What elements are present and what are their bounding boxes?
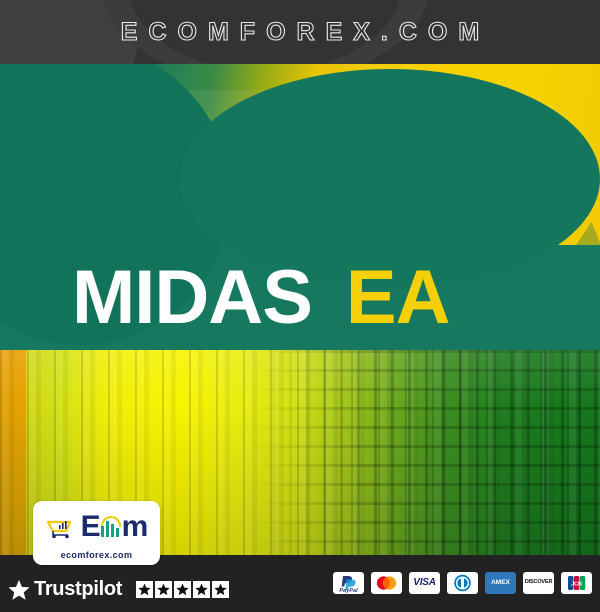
logo-mark: E m [33,510,160,544]
svg-text:JCB: JCB [571,582,582,588]
trustpilot-rating[interactable]: Trustpilot [8,578,229,601]
candlestick-icon [100,516,122,539]
rating-star-box [212,581,229,598]
discover-label: DISCOVER [525,580,553,586]
logo-letter-m: m [122,512,148,542]
page-title: MIDAS EA [0,245,600,350]
mastercard-icon[interactable] [371,572,402,594]
site-name: ECOMFOREX.COM [0,0,600,64]
amex-label: AMEX [491,580,510,587]
product-banner: ECOMFOREX.COM [0,0,600,612]
star-icon [8,579,30,601]
jcb-icon[interactable]: JCB [561,572,592,594]
brand-logo-badge[interactable]: E m ecomforex.com [33,501,160,565]
discover-icon[interactable]: DISCOVER [523,572,554,594]
paypal-icon[interactable]: PayPal [333,572,364,594]
title-primary: MIDAS [72,260,312,336]
star-icon [157,583,170,596]
rating-star-box [155,581,172,598]
trustpilot-stars [136,581,229,598]
logo-wordmark: E m [81,512,148,542]
logo-letter-e: E [81,512,100,542]
star-icon [138,583,151,596]
payment-methods: PayPal VISA AMEX DISCOVER [333,572,592,594]
star-icon [176,583,189,596]
rating-star-box [136,581,153,598]
diners-club-icon[interactable] [447,572,478,594]
trustpilot-brand: Trustpilot [34,578,122,601]
visa-label: VISA [413,578,436,588]
site-header: ECOMFOREX.COM [0,0,600,64]
star-icon [214,583,227,596]
svg-text:PayPal: PayPal [339,588,358,594]
rating-star-box [193,581,210,598]
title-accent: EA [346,260,450,336]
rating-star-box [174,581,191,598]
amex-icon[interactable]: AMEX [485,572,516,594]
star-icon [195,583,208,596]
visa-icon[interactable]: VISA [409,572,440,594]
shopping-cart-icon [46,515,80,539]
logo-url: ecomforex.com [33,550,160,560]
